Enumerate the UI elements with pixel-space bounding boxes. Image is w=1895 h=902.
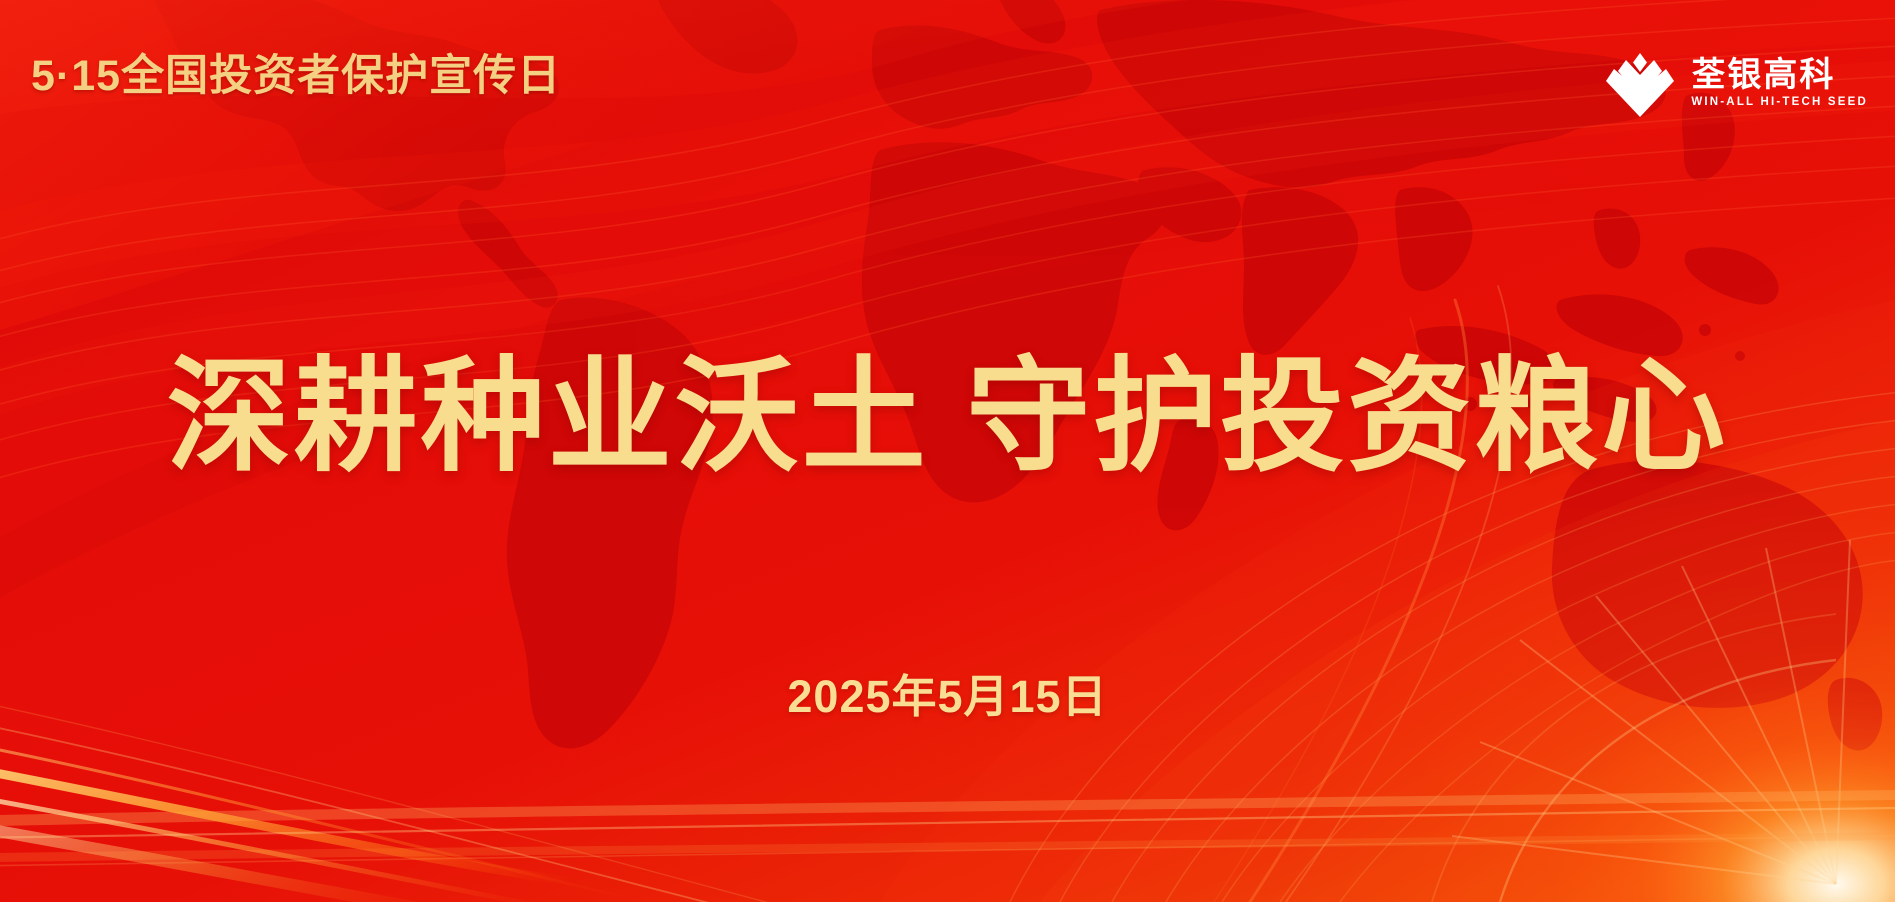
poster-canvas: 5·15全国投资者保护宣传日 荃银高科 WIN-ALL HI-TECH SEED… (0, 0, 1895, 902)
logo-wordmark: 荃银高科 WIN-ALL HI-TECH SEED (1691, 58, 1868, 108)
main-title: 深耕种业沃土 守护投资粮心 (0, 348, 1895, 487)
main-title-text: 深耕种业沃土 守护投资粮心 (167, 348, 1728, 487)
logo-chinese-name: 荃银高科 (1691, 58, 1868, 93)
campaign-eyebrow-text: 5·15全国投资者保护宣传日 (31, 55, 561, 98)
win-all-chevron-icon (1604, 47, 1676, 119)
company-logo: 荃银高科 WIN-ALL HI-TECH SEED (1604, 47, 1868, 119)
event-date-text: 2025年5月15日 (787, 660, 1107, 725)
event-date: 2025年5月15日 (0, 660, 1895, 725)
logo-english-name: WIN-ALL HI-TECH SEED (1691, 97, 1868, 109)
